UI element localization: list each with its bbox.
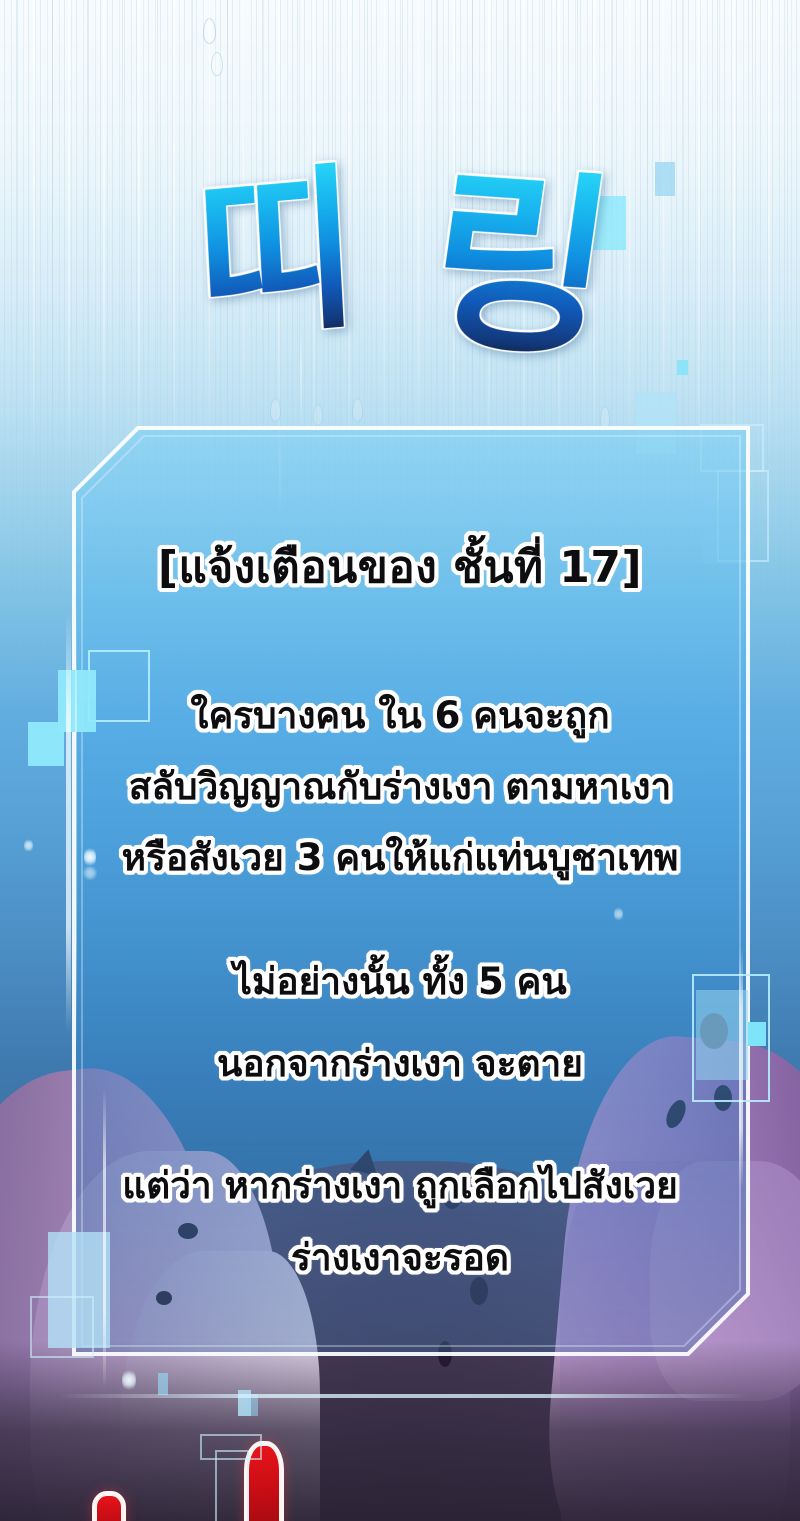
red-crystal-spike [92,1491,126,1521]
decor-outline-rect [215,1450,249,1521]
decor-square [158,1373,168,1395]
notification-line: ไม่อย่างนั้น ทั้ง 5 คน [0,952,800,1011]
decor-outline-rect [30,1296,94,1358]
notification-line: นอกจากร่างเงา จะตาย [0,1034,800,1093]
notification-line: หรือสังเวย 3 คนให้แก่แท่นบูชาเทพ [0,828,800,887]
sfx-char-1: 띠 [192,161,357,350]
notification-line: ใครบางคน ใน 6 คนจะถูก [0,686,800,745]
decor-outline-rect [200,1434,262,1460]
notification-line: ร่างเงาจะรอด [0,1228,800,1287]
light-particle [122,1368,136,1392]
rain-streak [208,0,210,48]
water-droplet [313,404,323,426]
water-droplet [270,398,281,422]
comic-page: 띠 링 [0,0,800,1521]
sfx-char-2: 링 [417,163,618,370]
rain-streak [620,250,622,340]
decor-square [677,360,688,375]
water-droplet [211,52,223,76]
light-particle [614,906,623,922]
water-droplet [352,398,363,422]
decor-horizontal-line [58,1394,748,1398]
notification-line: แต่ว่า หากร่างเงา ถูกเลือกไปสังเวย [0,1156,800,1215]
notification-title: [แจ้งเตือนของ ชั้นที่ 17] [0,532,800,602]
decor-square [655,162,675,196]
background-pinstripes-secondary [0,0,800,470]
notification-line: สลับวิญญาณกับร่างเงา ตามหาเงา [0,757,800,816]
